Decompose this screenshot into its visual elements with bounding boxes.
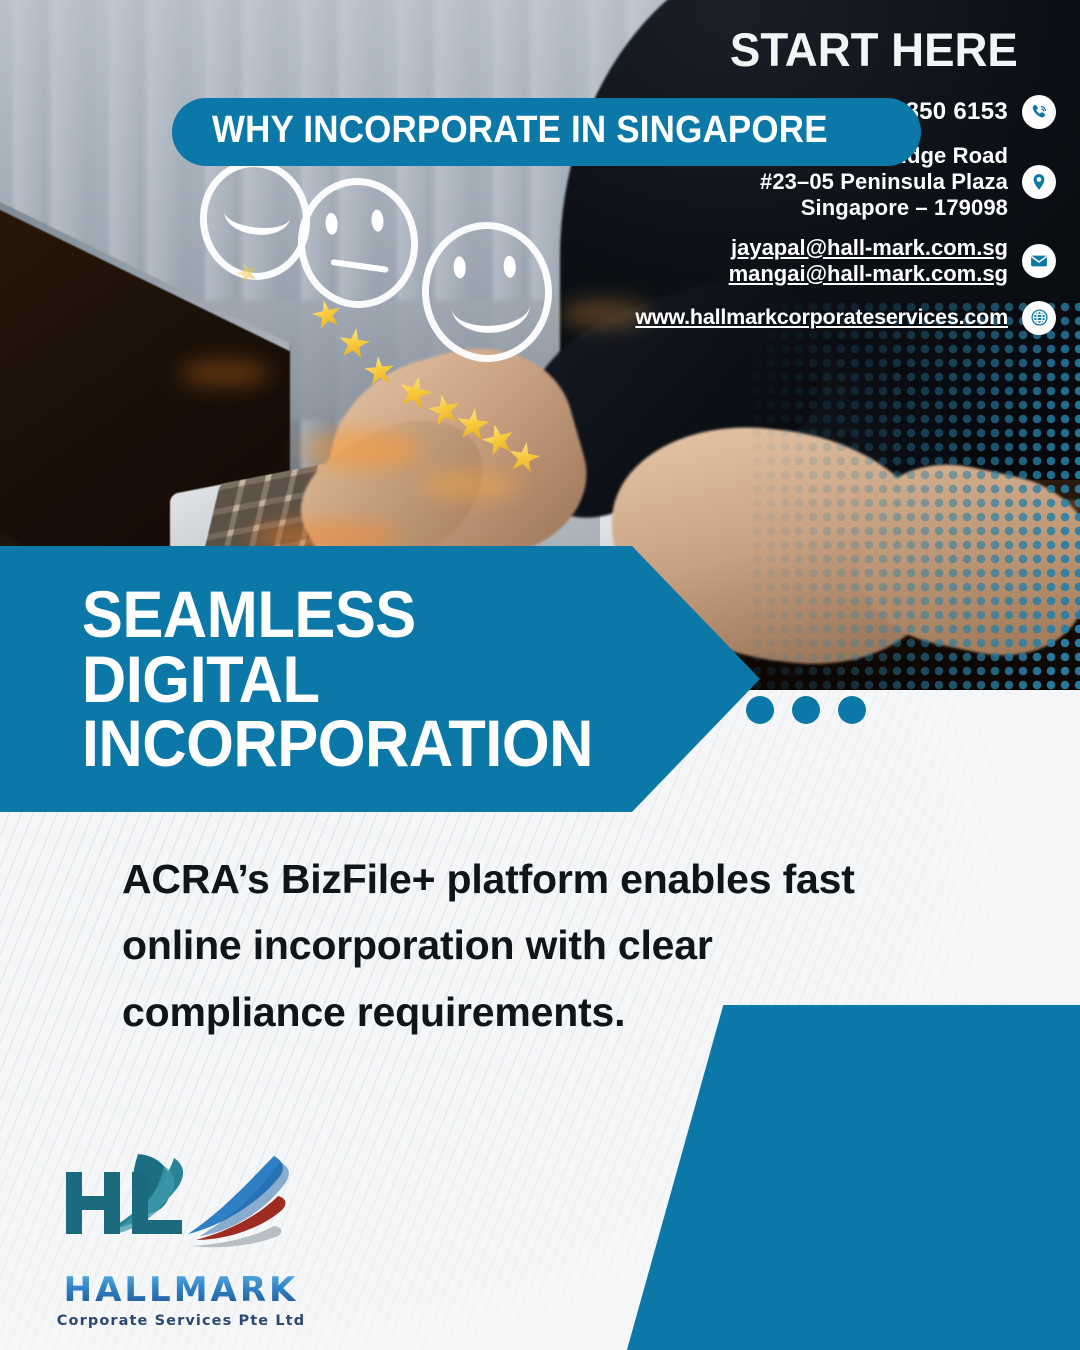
website-url[interactable]: www.hallmarkcorporateservices.com (635, 305, 1008, 330)
email-address-1[interactable]: jayapal@hall-mark.com.sg (729, 235, 1008, 261)
contact-row-website[interactable]: www.hallmarkcorporateservices.com (598, 301, 1056, 335)
bokeh-glow (180, 360, 270, 386)
logo-tagline: Corporate Services Pte Ltd (46, 1313, 316, 1329)
dot-icon (746, 696, 774, 724)
email-address-2[interactable]: mangai@hall-mark.com.sg (729, 261, 1008, 287)
dot-icon (792, 696, 820, 724)
headline-line-2: DIGITAL (82, 647, 593, 712)
phone-icon[interactable] (1022, 95, 1056, 129)
headline-banner: SEAMLESS DIGITAL INCORPORATION (0, 546, 760, 812)
header-pill-badge: WHY INCORPORATE IN SINGAPORE (172, 98, 921, 166)
envelope-icon[interactable] (1022, 244, 1056, 278)
bokeh-glow (300, 430, 420, 470)
logo-mark (46, 1148, 346, 1268)
start-here-heading: START HERE (730, 26, 1018, 73)
decorative-dots (746, 696, 866, 724)
company-logo: HALLMARK Corporate Services Pte Ltd (46, 1148, 346, 1333)
address-line-2: #23–05 Peninsula Plaza (760, 169, 1008, 195)
website-block[interactable]: www.hallmarkcorporateservices.com (635, 305, 1008, 330)
logo-wordmark: HALLMARK (46, 1270, 316, 1310)
location-pin-icon[interactable] (1022, 165, 1056, 199)
dot-icon (838, 696, 866, 724)
globe-icon[interactable] (1022, 301, 1056, 335)
contact-content: START HERE +65 9850 6153 111 North Bridg… (598, 0, 1080, 345)
address-line-3: Singapore – 179098 (760, 195, 1008, 221)
headline-text-group: SEAMLESS DIGITAL INCORPORATION (0, 582, 593, 776)
headline-line-1: SEAMLESS (82, 582, 593, 647)
poster-canvas: WHY INCORPORATE IN SINGAPORE SEAMLESS DI… (0, 0, 1080, 1350)
bokeh-glow (420, 470, 520, 500)
headline-line-3: INCORPORATION (82, 711, 593, 776)
contact-row-email[interactable]: jayapal@hall-mark.com.sg mangai@hall-mar… (598, 235, 1056, 287)
email-block[interactable]: jayapal@hall-mark.com.sg mangai@hall-mar… (729, 235, 1008, 287)
header-pill-label: WHY INCORPORATE IN SINGAPORE (212, 111, 828, 149)
